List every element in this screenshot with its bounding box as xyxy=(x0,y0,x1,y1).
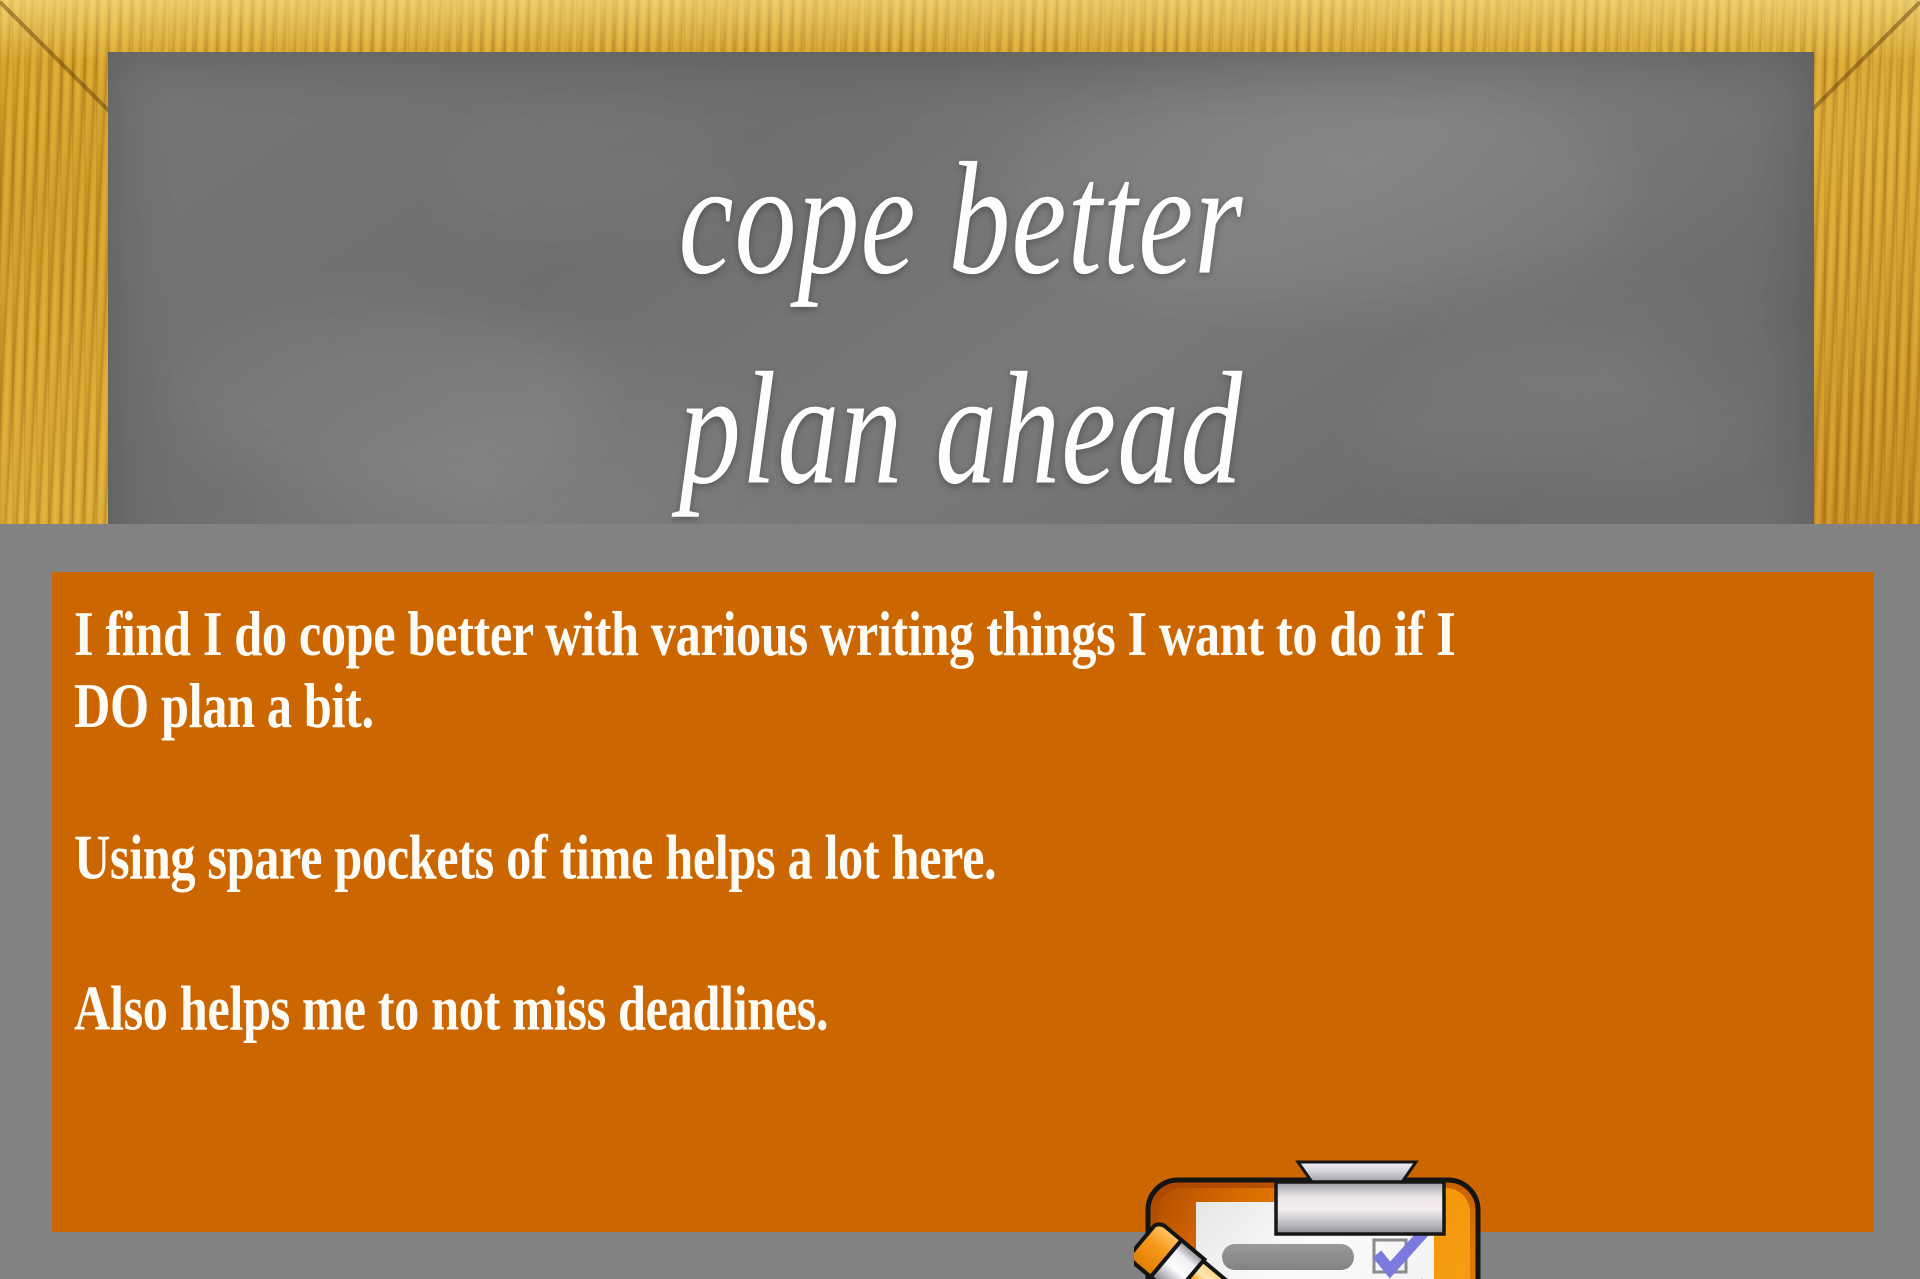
slide-root: cope better plan ahead I find I do cope … xyxy=(0,0,1920,1279)
panel-text-block: I find I do cope better with various wri… xyxy=(74,600,1499,1046)
checklist-line xyxy=(1222,1244,1354,1270)
body-paragraph-3: Also helps me to not miss deadlines. xyxy=(74,974,1499,1046)
chalkboard-header: cope better plan ahead xyxy=(0,0,1920,524)
clipboard-checklist-icon xyxy=(1134,1160,1514,1279)
content-panel: I find I do cope better with various wri… xyxy=(52,572,1874,1232)
page-title: cope better plan ahead xyxy=(159,114,1763,524)
clipboard-svg xyxy=(1134,1160,1514,1279)
body-paragraph-2: Using spare pockets of time helps a lot … xyxy=(74,823,1499,895)
chalkboard-surface: cope better plan ahead xyxy=(108,52,1814,524)
clipboard-clip xyxy=(1276,1162,1444,1234)
body-paragraph-1: I find I do cope better with various wri… xyxy=(74,600,1499,744)
